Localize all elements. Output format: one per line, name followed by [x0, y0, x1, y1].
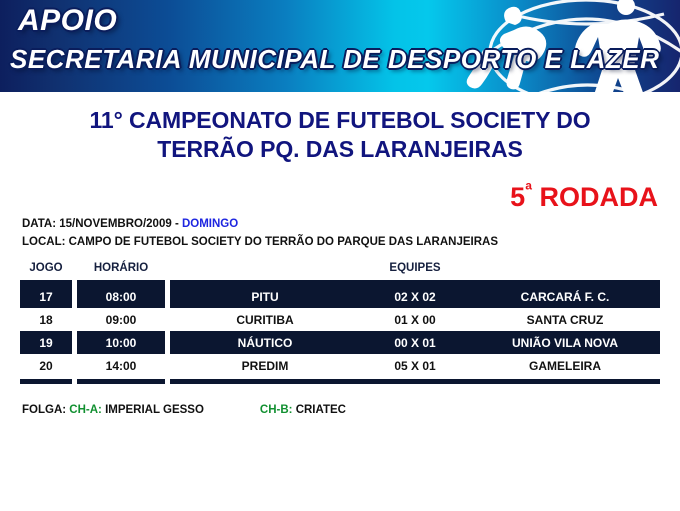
- folga-group-b-key: CH-B:: [260, 404, 293, 416]
- folga-group-a-key: CH-A:: [69, 404, 102, 416]
- banner-title-apoio: APOIO: [18, 4, 117, 38]
- folga-group-b-team: CRIATEC: [296, 404, 346, 416]
- event-weekday: DOMINGO: [182, 218, 238, 230]
- banner-title-secretaria: SECRETARIA MUNICIPAL DE DESPORTO E LAZER: [10, 44, 659, 75]
- bottom-rule-segment-equipes: [170, 379, 660, 384]
- table-row: 17 08:00 PITU 02 X 02 CARCARÁ F. C.: [0, 285, 680, 308]
- row-horario: 08:00: [77, 285, 165, 308]
- round-number: 5: [510, 182, 525, 212]
- event-info: DATA: 15/NOVEMBRO/2009 - DOMINGO LOCAL: …: [22, 215, 662, 251]
- row-score: 05 X 01: [360, 354, 470, 377]
- row-home-team: PITU: [170, 285, 360, 308]
- column-header-horario: HORÁRIO: [77, 262, 165, 274]
- table-row: 18 09:00 CURITIBA 01 X 00 SANTA CRUZ: [0, 308, 680, 331]
- folga-group-a-team: IMPERIAL GESSO: [105, 404, 204, 416]
- bottom-rule-segment-horario: [77, 379, 165, 384]
- row-away-team: UNIÃO VILA NOVA: [470, 331, 660, 354]
- row-jogo: 17: [20, 285, 72, 308]
- row-teams: CURITIBA 01 X 00 SANTA CRUZ: [170, 308, 660, 331]
- row-away-team: SANTA CRUZ: [470, 308, 660, 331]
- row-teams: PREDIM 05 X 01 GAMELEIRA: [170, 354, 660, 377]
- table-bottom-rule: [0, 379, 680, 384]
- row-jogo: 19: [20, 331, 72, 354]
- row-home-team: PREDIM: [170, 354, 360, 377]
- page-title-line-1: 11° CAMPEONATO DE FUTEBOL SOCIETY DO: [0, 106, 680, 135]
- round-ordinal: ª: [525, 179, 532, 200]
- page-title-line-2: TERRÃO PQ. DAS LARANJEIRAS: [0, 135, 680, 164]
- folga-line: FOLGA: CH-A: IMPERIAL GESSOCH-B: CRIATEC: [22, 404, 346, 416]
- event-date-label: DATA: 15/NOVEMBRO/2009 -: [22, 218, 182, 230]
- row-jogo: 18: [20, 308, 72, 331]
- event-location-line: LOCAL: CAMPO DE FUTEBOL SOCIETY DO TERRÃ…: [22, 233, 662, 251]
- table-header-row: JOGO HORÁRIO EQUIPES: [0, 262, 680, 278]
- banner-text-block: APOIO SECRETARIA MUNICIPAL DE DESPORTO E…: [0, 0, 680, 92]
- round-badge: 5ª RODADA: [510, 182, 658, 213]
- column-header-jogo: JOGO: [20, 262, 72, 274]
- table-row: 19 10:00 NÁUTICO 00 X 01 UNIÃO VILA NOVA: [0, 331, 680, 354]
- row-away-team: CARCARÁ F. C.: [470, 285, 660, 308]
- row-teams: PITU 02 X 02 CARCARÁ F. C.: [170, 285, 660, 308]
- table-row: 20 14:00 PREDIM 05 X 01 GAMELEIRA: [0, 354, 680, 377]
- event-date-line: DATA: 15/NOVEMBRO/2009 - DOMINGO: [22, 215, 662, 233]
- row-horario: 10:00: [77, 331, 165, 354]
- row-home-team: NÁUTICO: [170, 331, 360, 354]
- row-horario: 09:00: [77, 308, 165, 331]
- row-score: 01 X 00: [360, 308, 470, 331]
- row-horario: 14:00: [77, 354, 165, 377]
- round-label-text: RODADA: [540, 182, 659, 212]
- row-home-team: CURITIBA: [170, 308, 360, 331]
- row-jogo: 20: [20, 354, 72, 377]
- row-teams: NÁUTICO 00 X 01 UNIÃO VILA NOVA: [170, 331, 660, 354]
- folga-label: FOLGA:: [22, 404, 66, 416]
- sponsor-banner: APOIO SECRETARIA MUNICIPAL DE DESPORTO E…: [0, 0, 680, 92]
- row-score: 00 X 01: [360, 331, 470, 354]
- schedule-table: JOGO HORÁRIO EQUIPES 17 08:00 PITU 02 X …: [0, 262, 680, 384]
- row-score: 02 X 02: [360, 285, 470, 308]
- row-away-team: GAMELEIRA: [470, 354, 660, 377]
- bottom-rule-segment-jogo: [20, 379, 72, 384]
- page-title: 11° CAMPEONATO DE FUTEBOL SOCIETY DO TER…: [0, 106, 680, 164]
- column-header-equipes: EQUIPES: [170, 262, 660, 274]
